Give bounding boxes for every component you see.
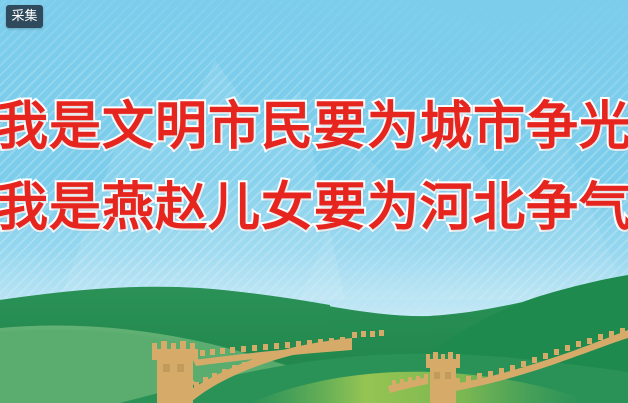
banner-screenshot: 我是文明市民 要为城市争光 我是燕赵儿女 要为河北争气 采集: [0, 0, 628, 403]
slogan-line-2: 我是燕赵儿女 要为河北争气: [0, 175, 628, 241]
slogan-line-1-left: 我是文明市民: [0, 94, 314, 160]
slogan-line-2-left: 我是燕赵儿女: [0, 175, 314, 241]
slogan-line-2-right: 要为河北争气: [314, 175, 628, 241]
capture-button[interactable]: 采集: [6, 5, 43, 28]
slogan-line-1-right: 要为城市争光: [314, 94, 628, 160]
slogan-line-1: 我是文明市民 要为城市争光: [0, 94, 628, 160]
